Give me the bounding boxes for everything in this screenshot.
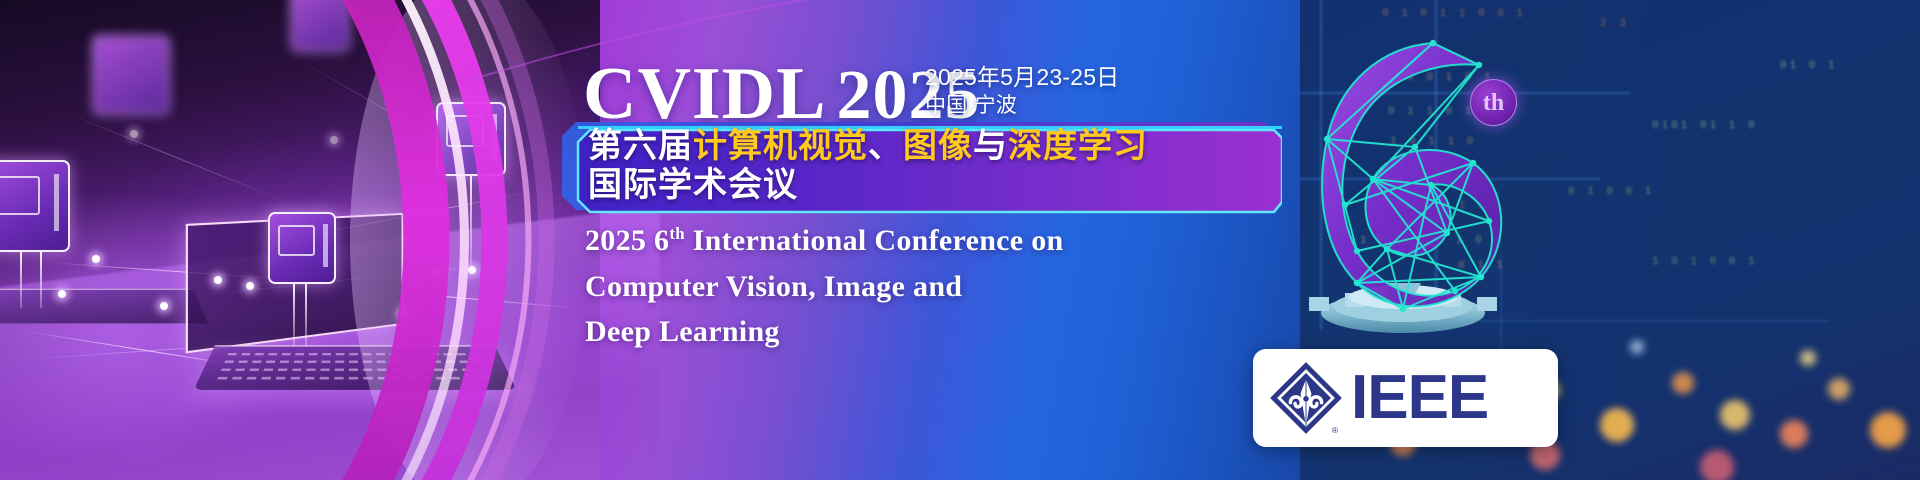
ieee-wordmark: IEEE [1351,367,1488,429]
ieee-logo: ® IEEE [1253,349,1558,447]
cn-seg-2: 计算机视觉 [693,127,868,165]
chinese-title-plaque: 第六届计算机视觉、图像与深度学习 国际学术会议 [552,118,1282,218]
chinese-title-text: 第六届计算机视觉、图像与深度学习 国际学术会议 [588,127,1148,206]
en-post: International Conference on [685,224,1064,257]
en-pre: 2025 6 [585,224,669,257]
conference-banner: 0 1 0 1 1 0 0 1 1 0 0 1 0 1 0 1 1 0 1 1 … [0,0,1920,480]
cn-seg-4: 图像 [903,127,973,165]
cn-seg-1: 第六届 [588,127,693,165]
ieee-diamond-icon: ® [1267,359,1345,437]
chinese-title-line-1: 第六届计算机视觉、图像与深度学习 [588,127,1148,166]
wireframe-six [1285,25,1520,335]
edition-ordinal-text: th [1483,91,1504,115]
edition-numeral-graphic [1285,25,1520,335]
event-date: 2025年5月23-25日 [925,62,1119,92]
cn-seg-5: 与 [973,127,1008,165]
cn-seg-6: 深度学习 [1008,127,1148,165]
english-title-line-3: Deep Learning [585,309,1064,355]
english-title-line-2: Computer Vision, Image and [585,264,1064,310]
en-ordinal-suffix: th [669,224,685,243]
cn-seg-3: 、 [868,127,903,165]
english-title-line-1: 2025 6th International Conference on [585,218,1064,264]
chinese-title-line-2: 国际学术会议 [588,166,1148,205]
english-title: 2025 6th International Conference on Com… [585,218,1064,355]
event-location: 中国·宁波 [925,92,1119,120]
event-date-location: 2025年5月23-25日 中国·宁波 [925,62,1119,120]
svg-text:®: ® [1332,425,1339,435]
edition-ordinal-badge: th [1470,79,1517,126]
